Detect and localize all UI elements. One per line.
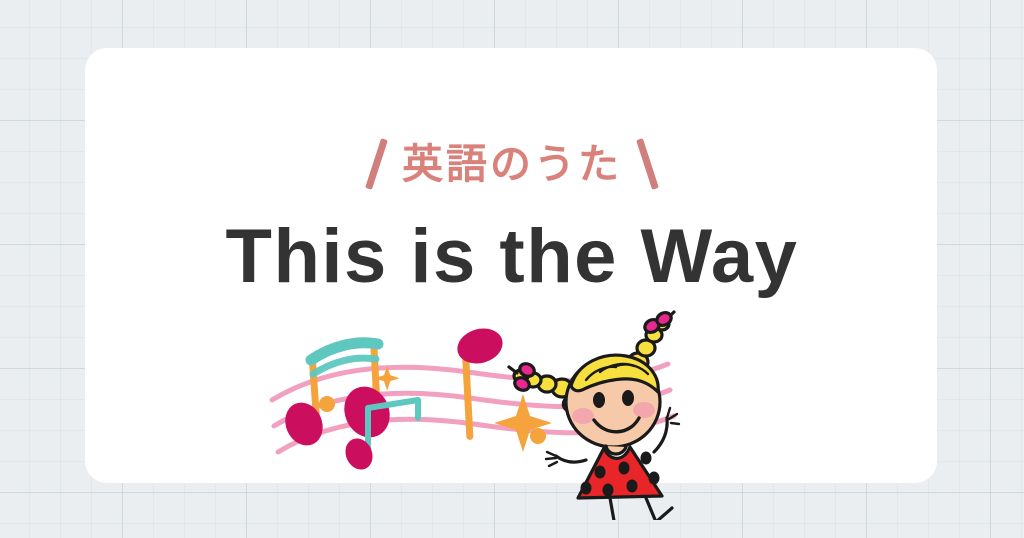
subtitle-row: 英語のうた (0, 128, 1024, 200)
subtitle-label: 英語のうた (402, 144, 622, 185)
dancing-girl-icon (509, 310, 679, 520)
page-background: 英語のうた This is the Way (0, 0, 1024, 538)
slash-right-decoration (636, 138, 659, 190)
beamed-note-pair-icon (279, 343, 398, 452)
orange-dot-icon (530, 428, 546, 444)
page-title: This is the Way (0, 212, 1024, 302)
orange-dot-icon (319, 396, 335, 412)
illustration-music-and-girl (268, 300, 728, 520)
slash-left-decoration (365, 138, 388, 190)
